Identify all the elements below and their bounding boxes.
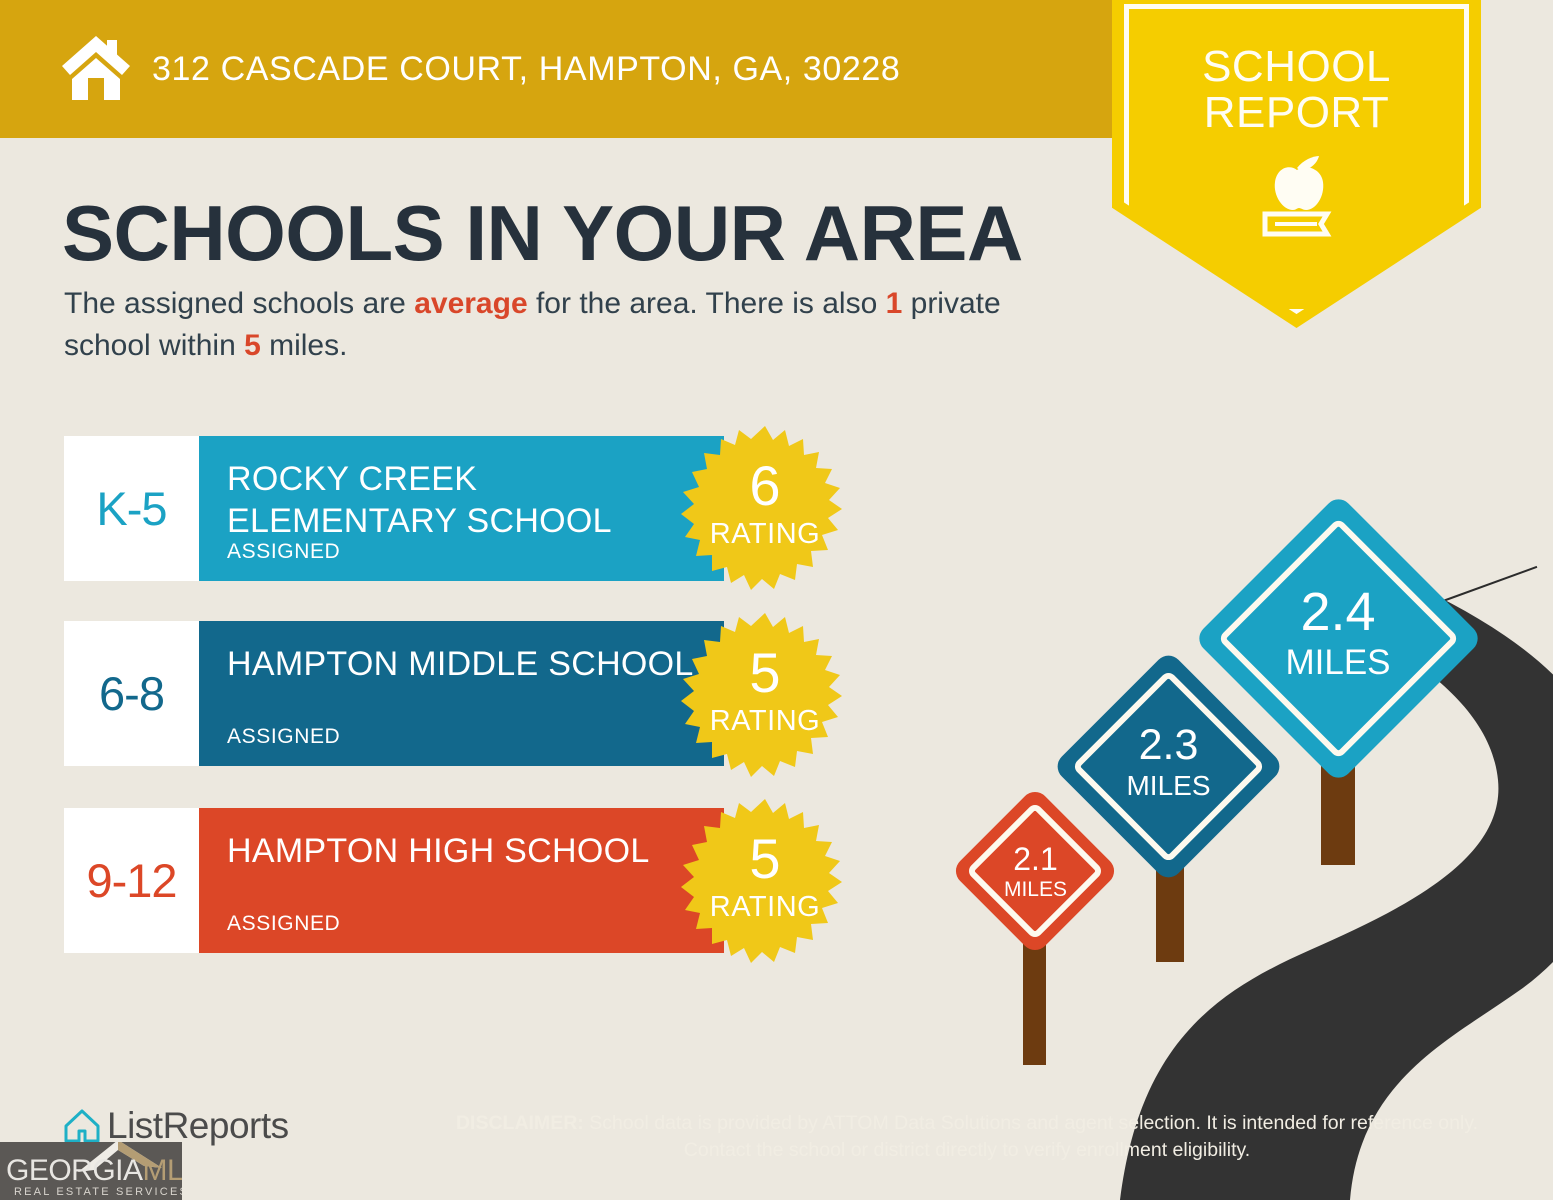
school-info-bar: HAMPTON MIDDLE SCHOOL ASSIGNED (199, 621, 724, 766)
school-row[interactable]: 9-12 HAMPTON HIGH SCHOOL ASSIGNED (64, 808, 724, 953)
listreports-house-icon (63, 1107, 101, 1145)
school-info-bar: ROCKY CREEK ELEMENTARY SCHOOL ASSIGNED (199, 436, 724, 581)
subtitle-highlight-radius: 5 (244, 329, 261, 362)
sign-distance-text: 2.1 MILES (977, 843, 1094, 900)
subtitle-part-4: miles. (261, 329, 348, 362)
sign-distance-unit: MILES (1088, 772, 1249, 800)
school-status: ASSIGNED (227, 912, 340, 936)
georgiamls-tagline: REAL ESTATE SERVICES (14, 1186, 182, 1198)
rating-word: RATING (681, 891, 849, 924)
property-address: 312 CASCADE COURT, HAMPTON, GA, 30228 (152, 50, 900, 89)
listreports-logo[interactable]: ListReports (63, 1105, 289, 1147)
grade-range-label: 6-8 (99, 666, 164, 721)
subtitle-highlight-count: 1 (886, 287, 903, 320)
subtitle-highlight-average: average (414, 287, 527, 320)
subtitle-part-1: The assigned schools are (64, 287, 414, 320)
school-rating-badge: 5 RATING (681, 797, 849, 965)
subtitle-part-2: for the area. There is also (528, 287, 886, 320)
school-status: ASSIGNED (227, 725, 340, 749)
school-rating-badge: 5 RATING (681, 611, 849, 779)
disclaimer-text: DISCLAIMER: School data is provided by A… (452, 1110, 1482, 1164)
rating-value: 5 (681, 831, 849, 887)
grade-range-box: 9-12 (64, 808, 199, 953)
sign-distance-value: 2.1 (977, 843, 1094, 875)
sign-distance-unit: MILES (1238, 645, 1438, 680)
school-name: ROCKY CREEK ELEMENTARY SCHOOL (227, 458, 707, 542)
house-icon (60, 34, 132, 102)
school-rating-badge: 6 RATING (681, 424, 849, 592)
sign-distance-unit: MILES (977, 879, 1094, 900)
badge-line-2: REPORT (1112, 90, 1481, 136)
school-row[interactable]: K-5 ROCKY CREEK ELEMENTARY SCHOOL ASSIGN… (64, 436, 724, 581)
rating-value: 5 (681, 645, 849, 701)
sign-distance-text: 2.4 MILES (1238, 585, 1438, 680)
grade-range-box: 6-8 (64, 621, 199, 766)
apple-and-book-icon (1243, 148, 1351, 248)
rating-value: 6 (681, 458, 849, 514)
disclaimer-body: School data is provided by ATTOM Data So… (584, 1112, 1478, 1161)
school-report-badge-title: SCHOOL REPORT (1112, 44, 1481, 136)
school-report-infographic: 312 CASCADE COURT, HAMPTON, GA, 30228 SC… (0, 0, 1553, 1200)
school-row[interactable]: 6-8 HAMPTON MIDDLE SCHOOL ASSIGNED (64, 621, 724, 766)
school-name: HAMPTON HIGH SCHOOL (227, 830, 707, 872)
disclaimer-label: DISCLAIMER: (456, 1112, 584, 1134)
page-title: SCHOOLS IN YOUR AREA (62, 188, 1023, 279)
georgiamls-mls: MLS (143, 1154, 182, 1187)
rating-word: RATING (681, 705, 849, 738)
grade-range-label: 9-12 (86, 853, 176, 908)
school-name: HAMPTON MIDDLE SCHOOL (227, 643, 707, 685)
georgiamls-wordmark: GEORGIAMLS (6, 1154, 182, 1188)
sign-distance-value: 2.4 (1238, 585, 1438, 639)
school-status: ASSIGNED (227, 540, 340, 564)
grade-range-label: K-5 (96, 481, 166, 536)
georgiamls-logo[interactable]: GEORGIAMLS REAL ESTATE SERVICES (0, 1142, 182, 1200)
page-subtitle: The assigned schools are average for the… (64, 283, 1074, 367)
grade-range-box: K-5 (64, 436, 199, 581)
sign-distance-value: 2.3 (1088, 724, 1249, 767)
listreports-wordmark: ListReports (107, 1105, 289, 1147)
school-info-bar: HAMPTON HIGH SCHOOL ASSIGNED (199, 808, 724, 953)
badge-line-1: SCHOOL (1112, 44, 1481, 90)
sign-distance-text: 2.3 MILES (1088, 724, 1249, 800)
georgiamls-georgia: GEORGIA (6, 1154, 143, 1187)
rating-word: RATING (681, 518, 849, 551)
